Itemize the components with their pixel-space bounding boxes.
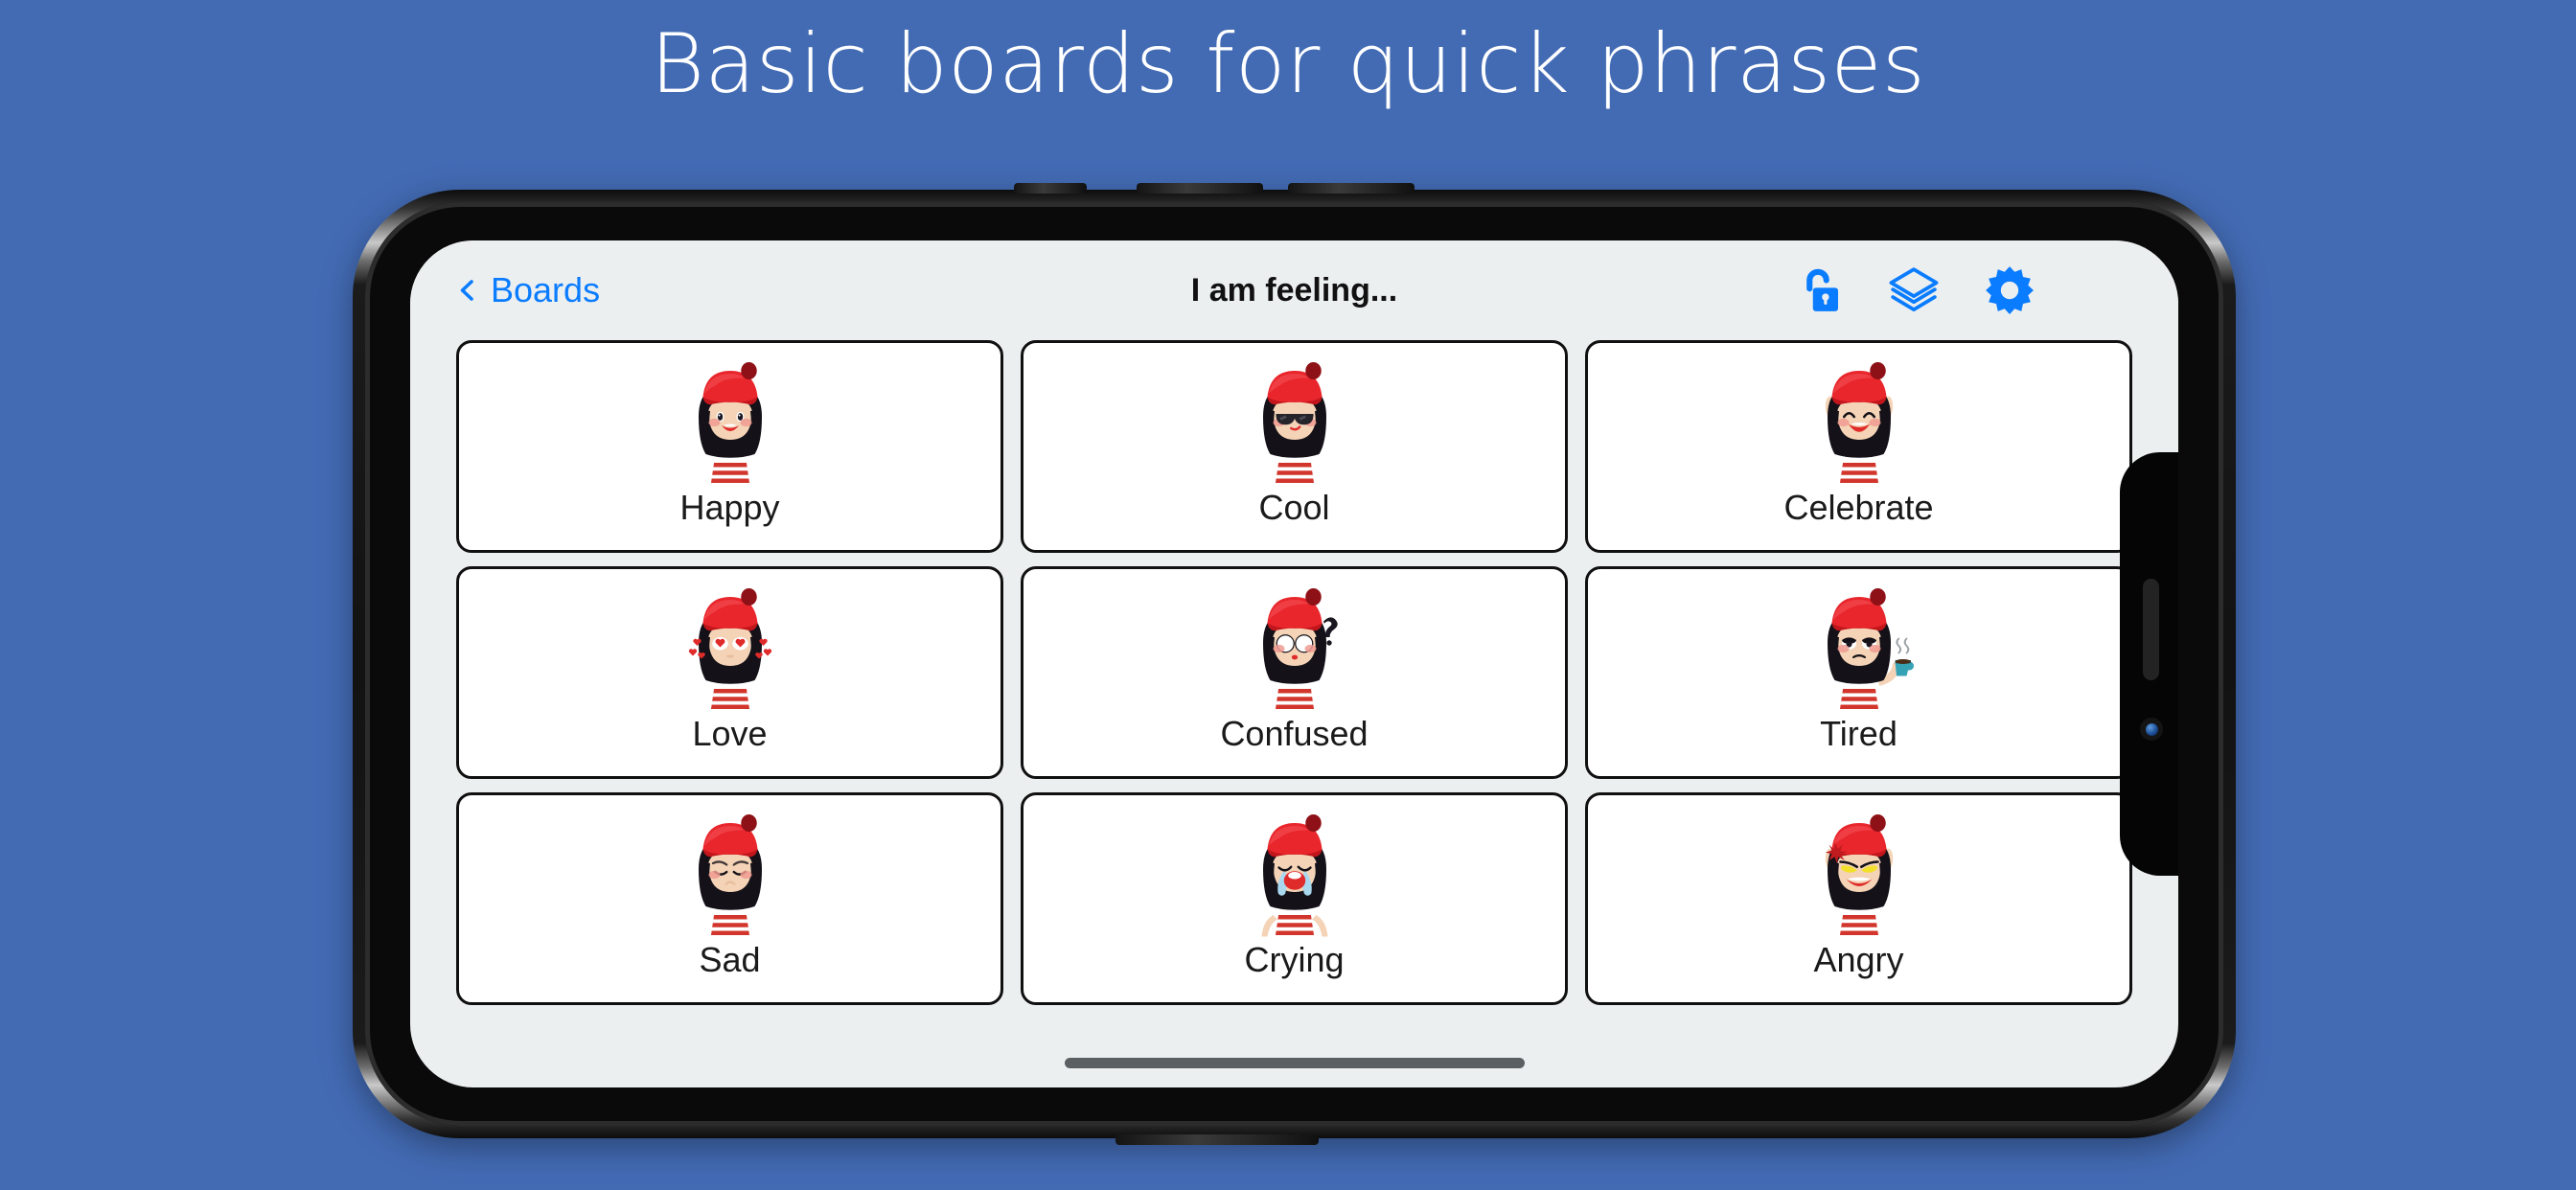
avatar-cool-image (1223, 351, 1367, 494)
board-cell-label: Tired (1820, 717, 1897, 751)
avatar-love-image (658, 577, 802, 721)
navbar-actions (1791, 263, 2178, 317)
avatar-confused-image (1223, 577, 1367, 721)
layers-icon[interactable] (1887, 263, 1941, 317)
avatar-angry (1787, 803, 1931, 947)
back-to-boards-button[interactable]: Boards (456, 270, 600, 310)
board-cell-celebrate[interactable]: Celebrate (1585, 340, 2132, 553)
board-cell-angry[interactable]: Angry (1585, 792, 2132, 1005)
front-camera-icon (2140, 718, 2163, 741)
avatar-confused (1223, 577, 1367, 721)
app-navbar: Boards I am feeling... (410, 240, 2178, 340)
volume-down-button[interactable] (1288, 183, 1414, 194)
avatar-celebrate (1787, 351, 1931, 494)
avatar-cool (1223, 351, 1367, 494)
chevron-left-icon (456, 279, 479, 302)
board-cell-label: Confused (1220, 717, 1368, 751)
board-cell-love[interactable]: Love (456, 566, 1003, 779)
avatar-happy-image (658, 351, 802, 494)
avatar-crying (1223, 803, 1367, 947)
avatar-celebrate-image (1787, 351, 1931, 494)
volume-up-button[interactable] (1137, 183, 1263, 194)
board-cell-label: Happy (679, 491, 779, 525)
board-cell-confused[interactable]: Confused (1021, 566, 1568, 779)
board-cell-label: Cool (1258, 491, 1329, 525)
gear-icon[interactable] (1983, 263, 2036, 317)
board-cell-label: Love (692, 717, 767, 751)
home-indicator[interactable] (1065, 1058, 1525, 1068)
board-cell-label: Angry (1813, 943, 1903, 977)
back-button-label: Boards (491, 270, 600, 310)
phone-screen: Boards I am feeling... (410, 240, 2178, 1087)
mute-switch-button[interactable] (1014, 183, 1087, 194)
avatar-angry-image (1787, 803, 1931, 947)
board-cell-label: Celebrate (1783, 491, 1933, 525)
board-cell-cool[interactable]: Cool (1021, 340, 1568, 553)
power-button[interactable] (1115, 1134, 1319, 1145)
avatar-happy (658, 351, 802, 494)
avatar-sad-image (658, 803, 802, 947)
phone-body: Boards I am feeling... (365, 202, 2223, 1126)
board-grid: Happy Cool (410, 340, 2178, 1005)
avatar-love (658, 577, 802, 721)
phone-mockup: Boards I am feeling... (353, 190, 2236, 1138)
avatar-sad (658, 803, 802, 947)
board-cell-sad[interactable]: Sad (456, 792, 1003, 1005)
board-cell-happy[interactable]: Happy (456, 340, 1003, 553)
avatar-crying-image (1223, 803, 1367, 947)
unlock-icon[interactable] (1791, 263, 1845, 317)
board-cell-tired[interactable]: Tired (1585, 566, 2132, 779)
avatar-tired-image (1787, 577, 1931, 721)
board-cell-label: Crying (1244, 943, 1344, 977)
board-cell-crying[interactable]: Crying (1021, 792, 1568, 1005)
earpiece-speaker-icon (2143, 579, 2159, 680)
device-notch (2120, 452, 2178, 876)
board-cell-label: Sad (699, 943, 760, 977)
avatar-tired (1787, 577, 1931, 721)
page-title: Basic boards for quick phrases (0, 19, 2576, 110)
